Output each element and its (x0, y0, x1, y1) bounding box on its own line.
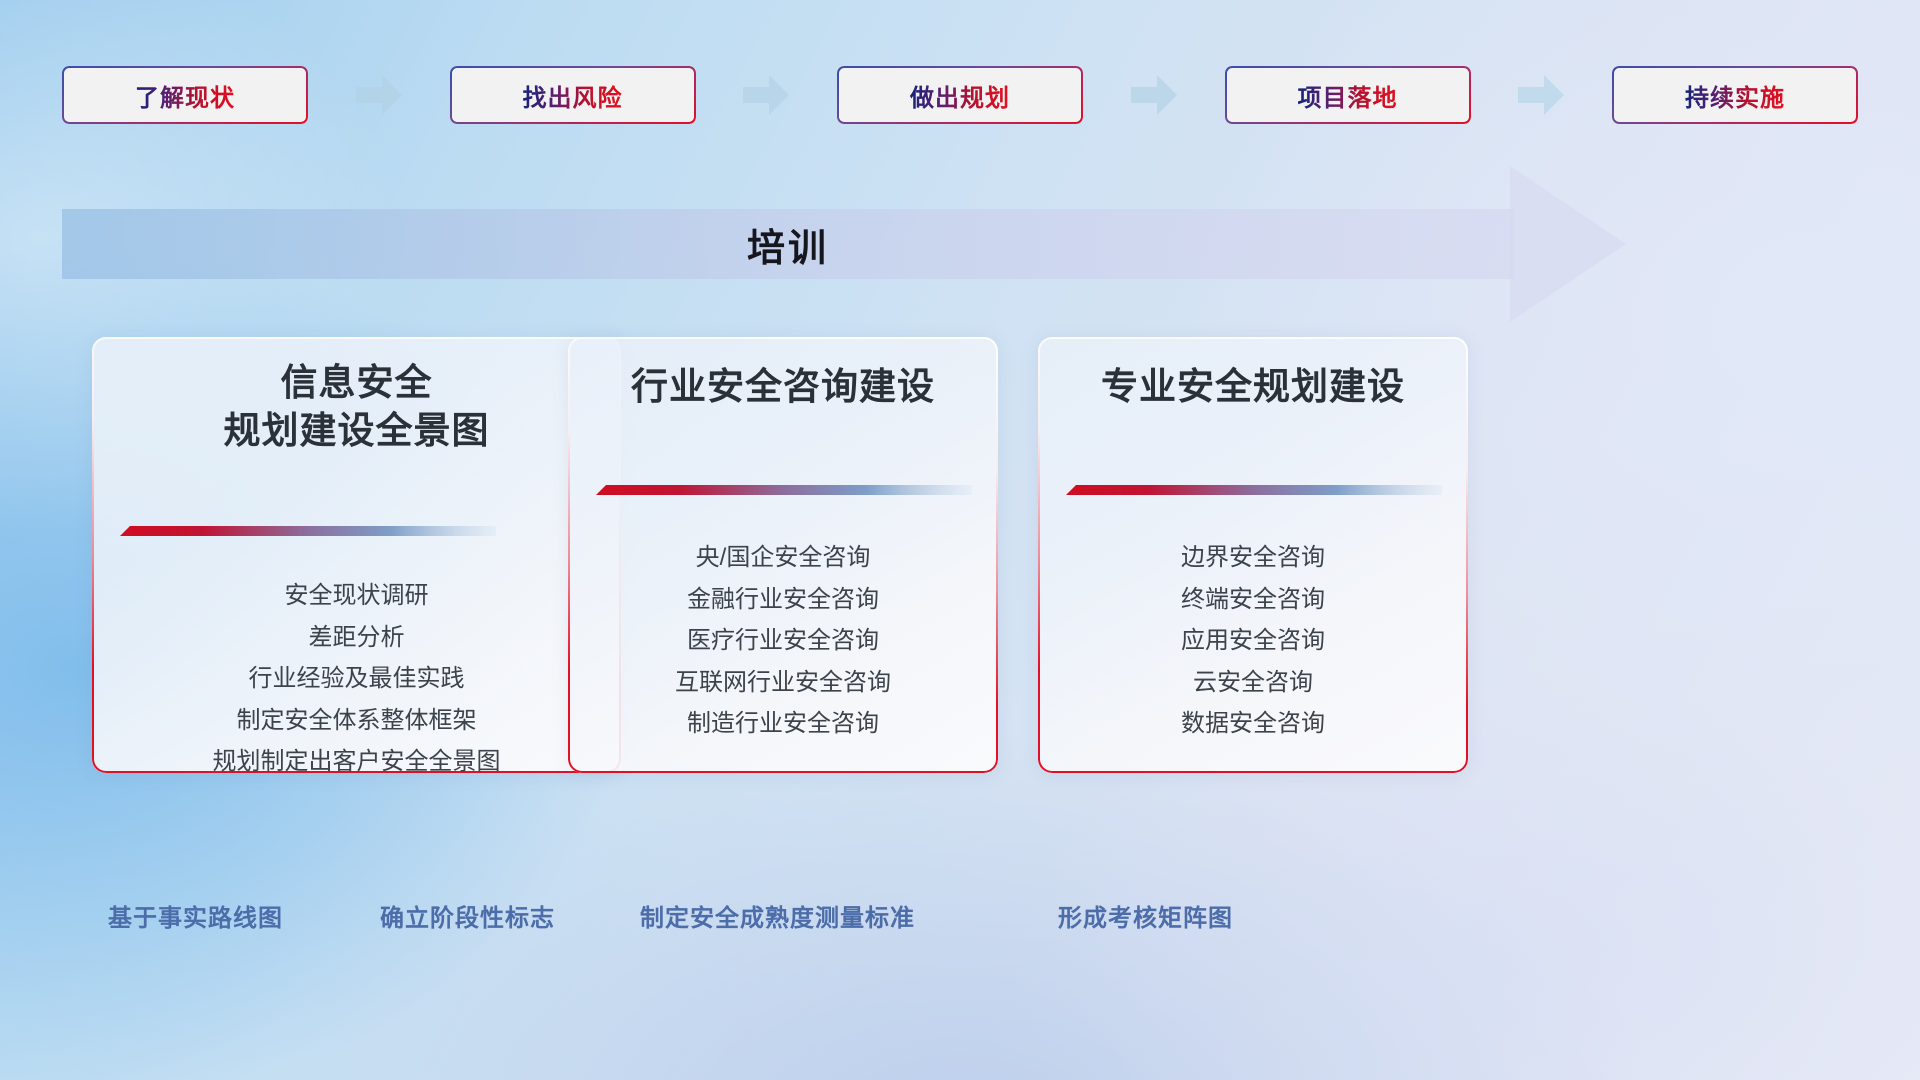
step-label-3: 做出规划 (910, 78, 1010, 113)
list-item: 行业经验及最佳实践 (92, 658, 621, 700)
list-item: 制定安全体系整体框架 (92, 700, 621, 742)
list-item: 规划制定出客户安全全景图 (92, 741, 621, 783)
training-banner-title: 培训 (62, 209, 1514, 279)
step-arrow-icon-1 (308, 73, 450, 117)
list-item: 云安全咨询 (1038, 662, 1468, 704)
footer-label-2: 制定安全成熟度测量标准 (640, 898, 915, 933)
step-arrow-icon-2 (696, 73, 838, 117)
list-item: 边界安全咨询 (1038, 537, 1468, 579)
list-item: 金融行业安全咨询 (568, 579, 998, 621)
list-item: 数据安全咨询 (1038, 703, 1468, 745)
step-label-5: 持续实施 (1685, 78, 1785, 113)
card-title-line: 专业安全规划建设 (1038, 363, 1468, 411)
card-title-1: 行业安全咨询建设 (568, 363, 998, 411)
step-box-4[interactable]: 项目落地 (1225, 66, 1471, 124)
list-item: 应用安全咨询 (1038, 620, 1468, 662)
footer-label-1: 确立阶段性标志 (380, 898, 555, 933)
list-item: 互联网行业安全咨询 (568, 662, 998, 704)
card-divider-0 (120, 526, 496, 540)
card-title-line: 规划建设全景图 (92, 407, 621, 455)
training-banner-arrowhead (1510, 166, 1626, 322)
card-information-security-blueprint[interactable]: 信息安全 规划建设全景图 安全现状调研 差距分析 行业经验及最佳实践 制定安全体… (92, 337, 621, 773)
card-title-line: 信息安全 (92, 359, 621, 407)
card-divider-2 (1066, 485, 1442, 499)
step-label-4: 项目落地 (1298, 78, 1398, 113)
footer-label-3: 形成考核矩阵图 (1058, 898, 1233, 933)
card-title-2: 专业安全规划建设 (1038, 363, 1468, 411)
list-item: 终端安全咨询 (1038, 579, 1468, 621)
card-divider-1 (596, 485, 972, 499)
step-arrow-icon-4 (1471, 73, 1613, 117)
step-box-3[interactable]: 做出规划 (837, 66, 1083, 124)
footer-label-0: 基于事实路线图 (108, 898, 283, 933)
step-box-2[interactable]: 找出风险 (450, 66, 696, 124)
list-item: 制造行业安全咨询 (568, 703, 998, 745)
step-box-1[interactable]: 了解现状 (62, 66, 308, 124)
step-arrow-icon-3 (1083, 73, 1225, 117)
process-step-row: 了解现状 找出风险 做出规划 项目落地 持续实施 (62, 66, 1858, 124)
step-label-1: 了解现状 (135, 78, 235, 113)
list-item: 安全现状调研 (92, 575, 621, 617)
card-list-0: 安全现状调研 差距分析 行业经验及最佳实践 制定安全体系整体框架 规划制定出客户… (92, 575, 621, 783)
list-item: 医疗行业安全咨询 (568, 620, 998, 662)
card-industry-security-consulting[interactable]: 行业安全咨询建设 央/国企安全咨询 金融行业安全咨询 医疗行业安全咨询 互联网行… (568, 337, 998, 773)
list-item: 央/国企安全咨询 (568, 537, 998, 579)
step-box-5[interactable]: 持续实施 (1612, 66, 1858, 124)
card-title-0: 信息安全 规划建设全景图 (92, 359, 621, 455)
card-list-1: 央/国企安全咨询 金融行业安全咨询 医疗行业安全咨询 互联网行业安全咨询 制造行… (568, 537, 998, 745)
card-title-line: 行业安全咨询建设 (568, 363, 998, 411)
card-professional-security-planning[interactable]: 专业安全规划建设 边界安全咨询 终端安全咨询 应用安全咨询 云安全咨询 数据安全… (1038, 337, 1468, 773)
card-list-2: 边界安全咨询 终端安全咨询 应用安全咨询 云安全咨询 数据安全咨询 (1038, 537, 1468, 745)
step-label-2: 找出风险 (523, 78, 623, 113)
list-item: 差距分析 (92, 617, 621, 659)
